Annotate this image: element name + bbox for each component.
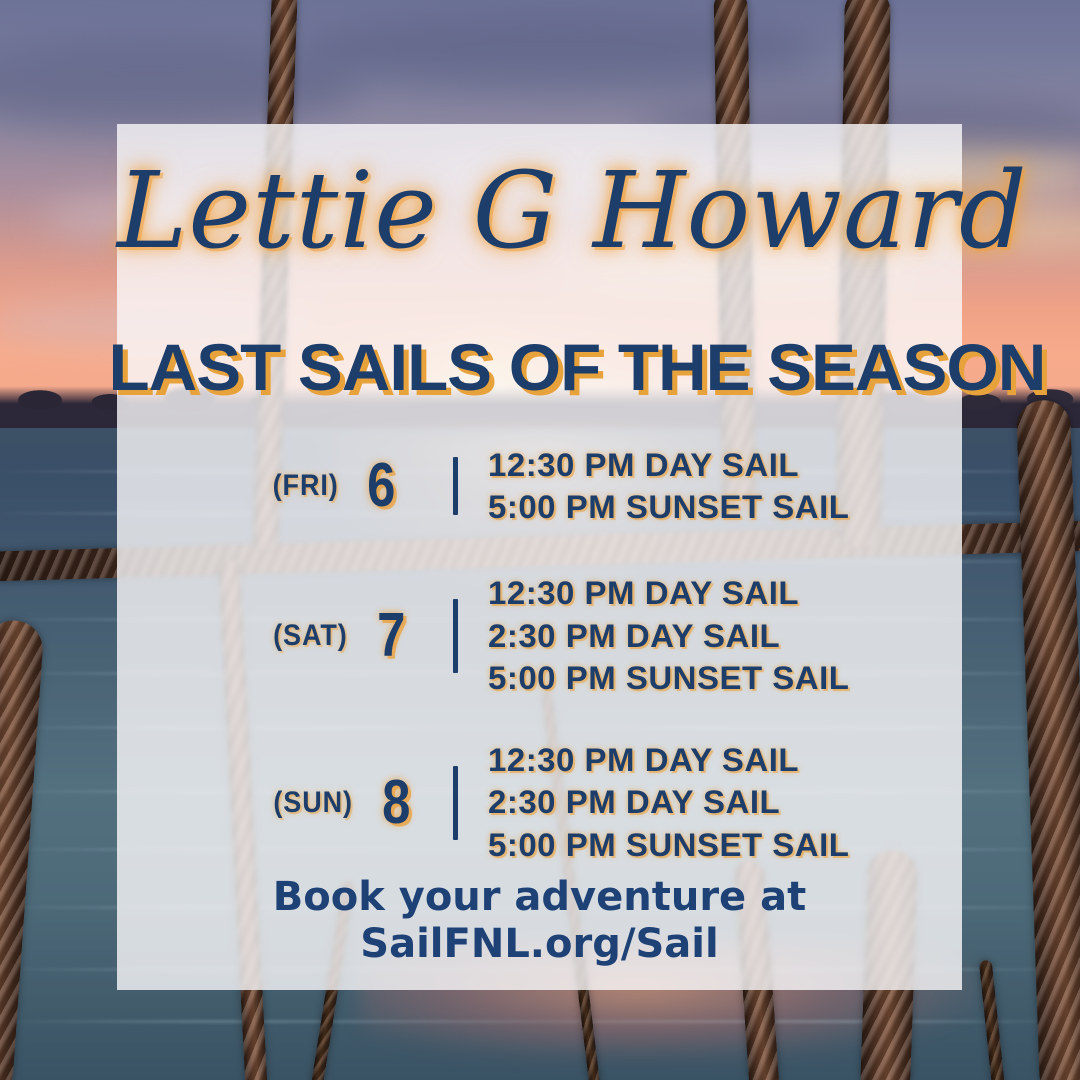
schedule-row: (SUN) 8 12:30 PM DAY SAIL 2:30 PM DAY SA…	[117, 739, 962, 866]
sail-times: 12:30 PM DAY SAIL 2:30 PM DAY SAIL 5:00 …	[488, 572, 839, 699]
sail-time: 5:00 PM SUNSET SAIL	[488, 657, 849, 699]
sail-times: 12:30 PM DAY SAIL 2:30 PM DAY SAIL 5:00 …	[488, 739, 839, 866]
content-card: Lettie G Howard LAST SAILS OF THE SEASON…	[117, 124, 962, 990]
row-divider	[453, 599, 458, 673]
sail-time: 2:30 PM DAY SAIL	[488, 615, 849, 657]
sail-time: 5:00 PM SUNSET SAIL	[488, 486, 849, 528]
schedule-list: (FRI) 6 12:30 PM DAY SAIL 5:00 PM SUNSET…	[117, 444, 962, 888]
row-divider	[453, 457, 458, 515]
headline: LAST SAILS OF THE SEASON	[109, 329, 971, 405]
date-group: (FRI) 6	[269, 455, 447, 517]
sail-time: 12:30 PM DAY SAIL	[488, 739, 849, 781]
day-label: (SAT)	[273, 619, 347, 653]
day-label: (SUN)	[273, 786, 352, 820]
schedule-row: (FRI) 6 12:30 PM DAY SAIL 5:00 PM SUNSET…	[117, 444, 962, 528]
sail-time: 2:30 PM DAY SAIL	[488, 781, 849, 823]
cta-line-1: Book your adventure at	[117, 874, 962, 921]
date-group: (SAT) 7	[269, 605, 447, 667]
schedule-row: (SAT) 7 12:30 PM DAY SAIL 2:30 PM DAY SA…	[117, 572, 962, 699]
day-number: 6	[367, 455, 395, 517]
ship-name-title: Lettie G Howard	[117, 150, 962, 272]
cta-url[interactable]: SailFNL.org/Sail	[117, 921, 962, 968]
day-number: 7	[377, 605, 405, 667]
sail-schedule-poster: Lettie G Howard LAST SAILS OF THE SEASON…	[0, 0, 1080, 1080]
sail-time: 12:30 PM DAY SAIL	[488, 572, 849, 614]
sail-time: 12:30 PM DAY SAIL	[488, 444, 849, 486]
day-label: (FRI)	[273, 469, 339, 503]
sail-time: 5:00 PM SUNSET SAIL	[488, 824, 849, 866]
call-to-action: Book your adventure at SailFNL.org/Sail	[117, 874, 962, 968]
sail-times: 12:30 PM DAY SAIL 5:00 PM SUNSET SAIL	[488, 444, 839, 528]
row-divider	[453, 766, 458, 840]
date-group: (SUN) 8	[269, 772, 447, 834]
day-number: 8	[382, 772, 410, 834]
